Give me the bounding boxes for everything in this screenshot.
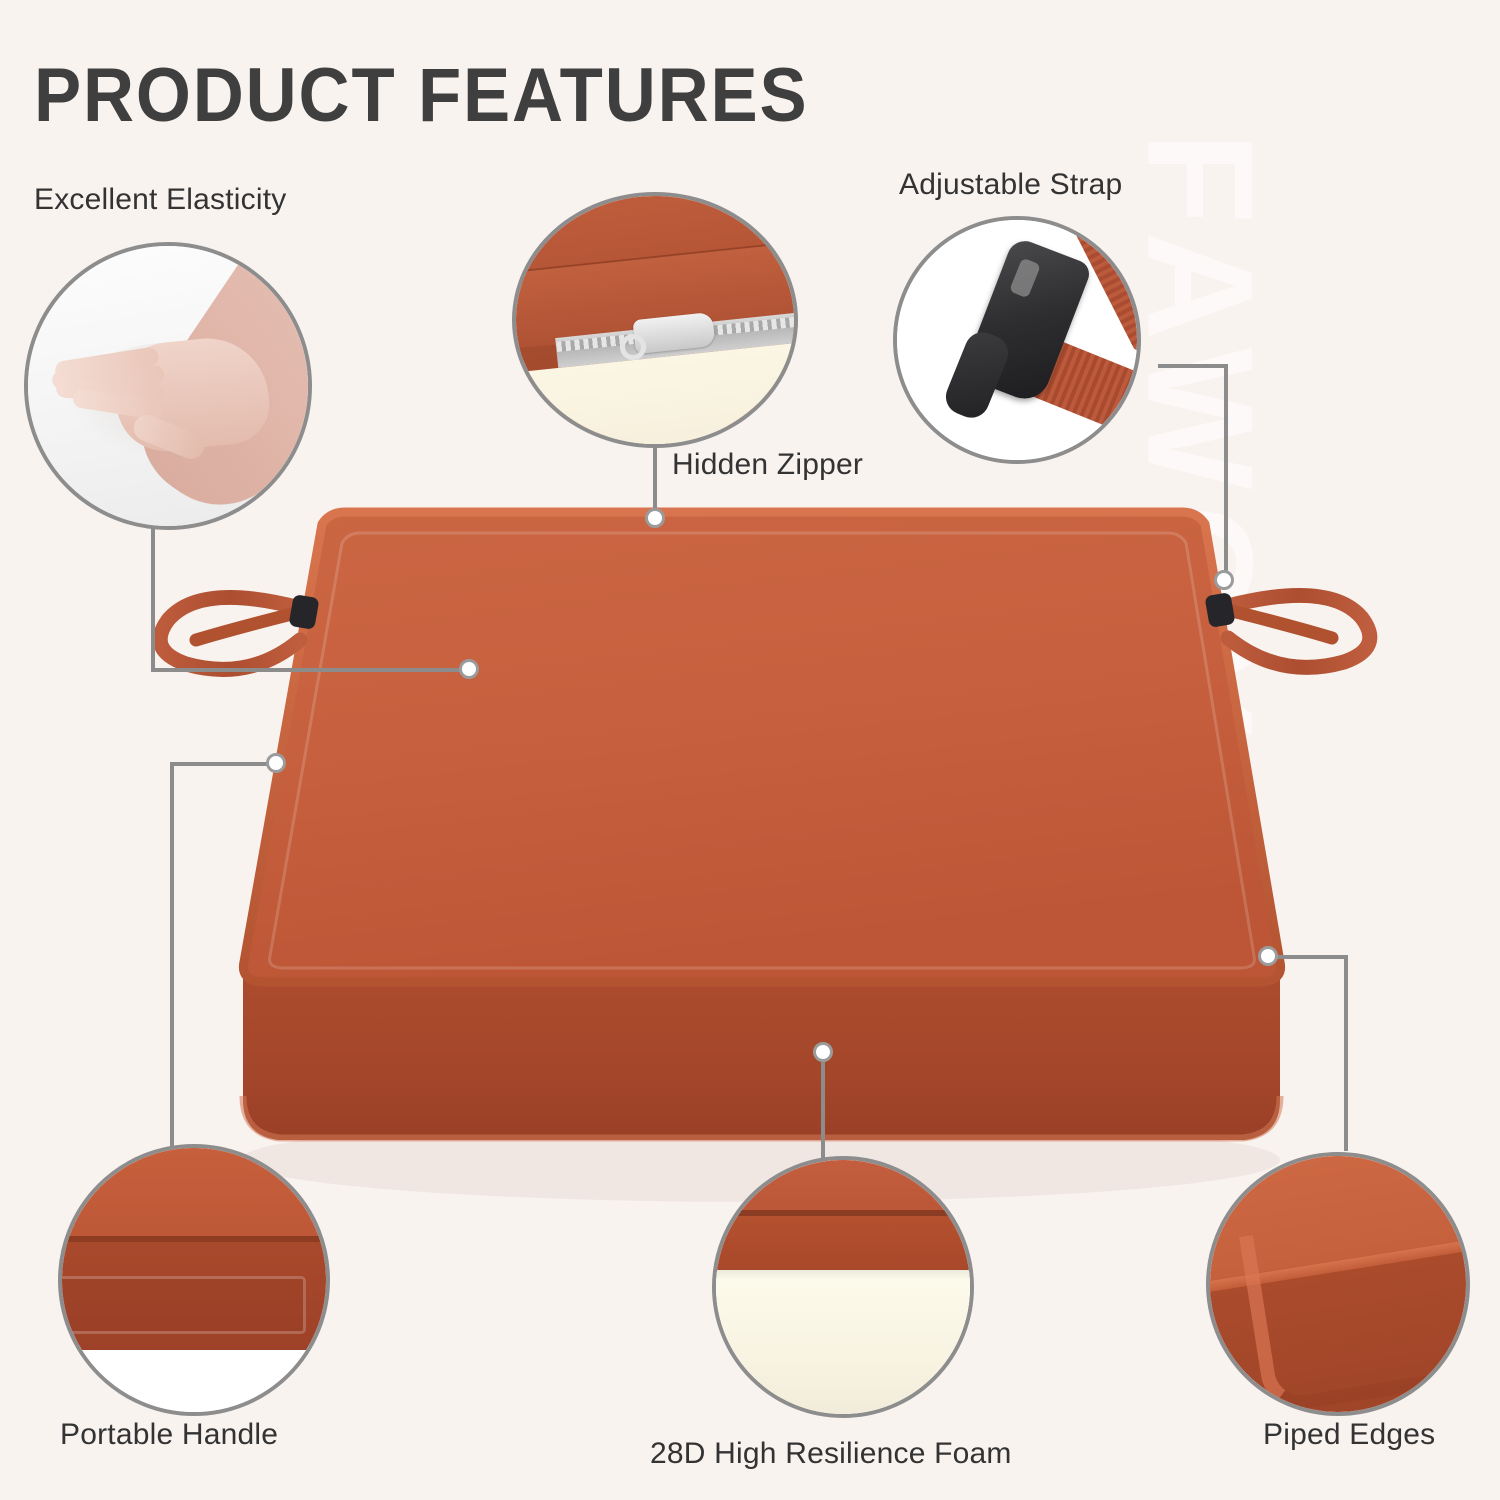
- dot-handle: [266, 753, 286, 773]
- page-title: PRODUCT FEATURES: [34, 52, 809, 139]
- callout-high-resilience-foam[interactable]: [712, 1156, 974, 1418]
- callout-image-elasticity: [28, 246, 308, 526]
- leader-strap-vertical: [1224, 364, 1228, 580]
- leader-handle-vertical: [170, 762, 174, 1154]
- callout-image-foam: [716, 1160, 970, 1414]
- callout-adjustable-strap[interactable]: [893, 216, 1141, 464]
- leader-elasticity-vertical: [151, 520, 155, 672]
- label-excellent-elasticity: Excellent Elasticity: [34, 183, 286, 217]
- label-hidden-zipper: Hidden Zipper: [672, 448, 863, 482]
- leader-elasticity-horizontal: [151, 668, 469, 672]
- leader-piped-vertical: [1344, 955, 1348, 1151]
- leader-piped-horizontal: [1270, 955, 1348, 959]
- callout-hidden-zipper[interactable]: [512, 192, 798, 448]
- leader-handle-horizontal: [170, 762, 276, 766]
- callout-image-strap: [897, 220, 1137, 460]
- dot-piped: [1258, 946, 1278, 966]
- callout-image-handle: [62, 1148, 326, 1412]
- brand-watermark: FAWOYAE: [1114, 107, 1287, 1007]
- dot-foam: [813, 1042, 833, 1062]
- callout-portable-handle[interactable]: [58, 1144, 330, 1416]
- dot-elasticity: [459, 659, 479, 679]
- callout-excellent-elasticity[interactable]: [24, 242, 312, 530]
- callout-piped-edges[interactable]: [1206, 1152, 1470, 1416]
- leader-strap-horizontal: [1158, 364, 1228, 368]
- callout-image-piped: [1210, 1156, 1466, 1412]
- label-portable-handle: Portable Handle: [60, 1418, 278, 1452]
- label-piped-edges: Piped Edges: [1263, 1418, 1435, 1452]
- infographic-canvas: FAWOYAE PRODUCT FEATURES: [0, 0, 1500, 1500]
- callout-image-zipper: [516, 196, 794, 444]
- leader-foam-vertical: [821, 1052, 825, 1172]
- dot-zipper: [645, 508, 665, 528]
- label-adjustable-strap: Adjustable Strap: [899, 168, 1122, 202]
- dot-strap: [1214, 570, 1234, 590]
- label-high-resilience-foam: 28D High Resilience Foam: [650, 1437, 1012, 1471]
